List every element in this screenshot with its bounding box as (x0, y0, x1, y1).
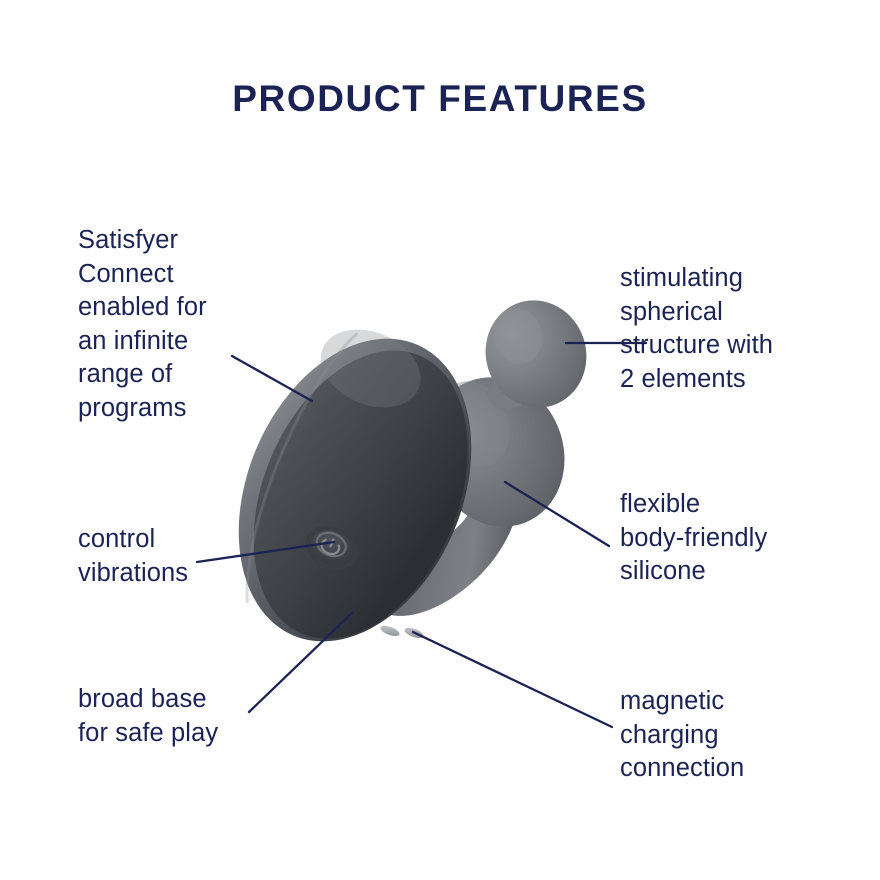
callout-control-vibrations: control vibrations (78, 523, 328, 590)
callout-satisfyer-connect: Satisfyer Connect enabled for an infinit… (78, 224, 328, 425)
callout-broad-base: broad base for safe play (78, 683, 348, 750)
callout-spherical-structure: stimulating spherical structure with 2 e… (620, 262, 870, 396)
callout-flexible-silicone: flexible body-friendly silicone (620, 488, 870, 589)
callout-magnetic-charging: magnetic charging connection (620, 685, 870, 786)
product-features-infographic: PRODUCT FEATURES (0, 0, 880, 880)
magnetic-charging-contacts (379, 624, 425, 640)
